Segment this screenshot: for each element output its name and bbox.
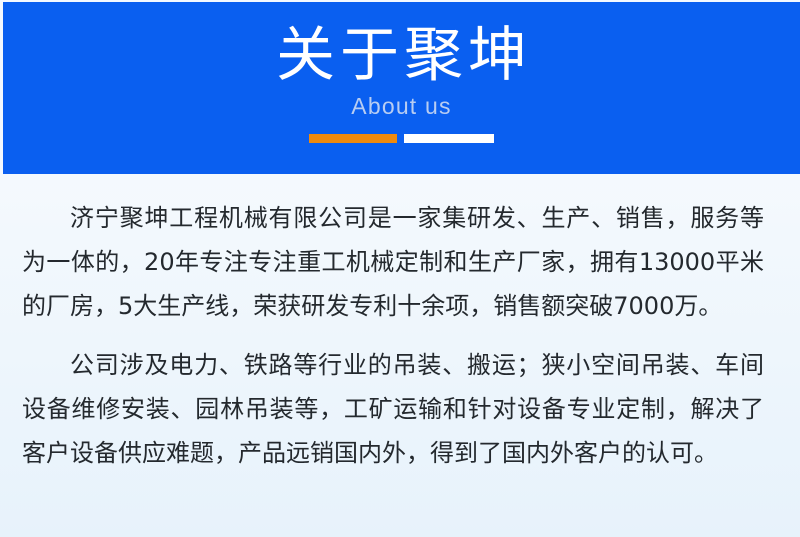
banner-content: 关于聚坤 About us	[3, 2, 800, 174]
body-paragraph-2: 公司涉及电力、铁路等行业的吊装、搬运；狭小空间吊装、车间设备维修安装、园林吊装等…	[22, 343, 764, 475]
about-us-body: 济宁聚坤工程机械有限公司是一家集研发、生产、销售，服务等为一体的，20年专注专注…	[22, 196, 764, 475]
about-us-page: 关于聚坤 About us 济宁聚坤工程机械有限公司是一家集研发、生产、销售，服…	[0, 0, 800, 537]
body-paragraph-1: 济宁聚坤工程机械有限公司是一家集研发、生产、销售，服务等为一体的，20年专注专注…	[22, 196, 764, 328]
page-title: 关于聚坤	[271, 20, 532, 90]
underline-accent-orange	[309, 134, 397, 143]
title-underline-group	[309, 134, 494, 143]
page-subtitle: About us	[351, 92, 451, 120]
about-us-banner: 关于聚坤 About us	[0, 0, 800, 174]
underline-accent-white	[404, 134, 494, 143]
